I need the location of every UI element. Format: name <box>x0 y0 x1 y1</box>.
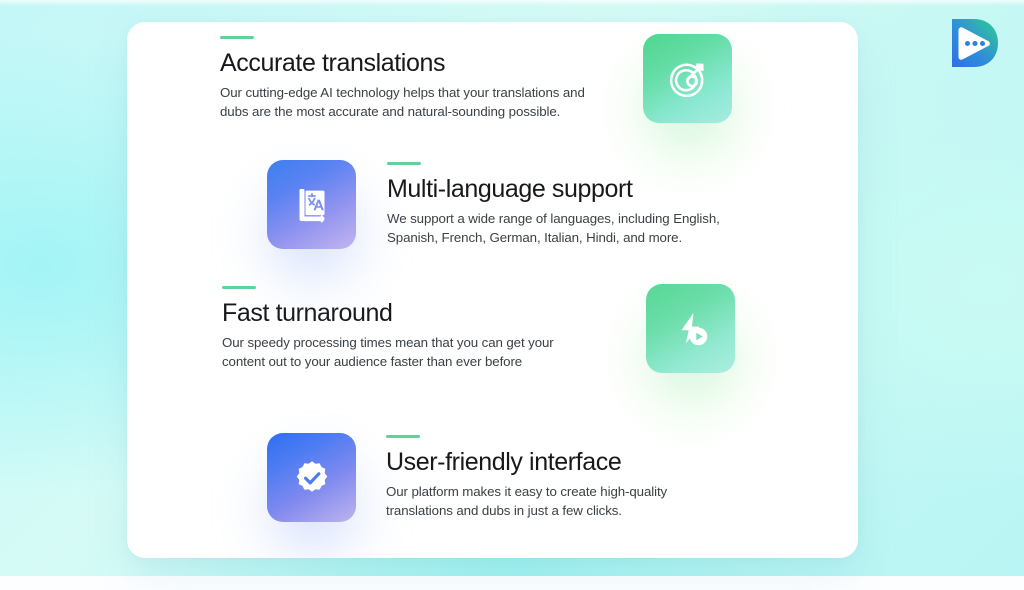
feature-item-multi-language-support: Multi-language support We support a wide… <box>267 160 757 249</box>
brand-logo[interactable] <box>944 14 1002 72</box>
feature-item-user-friendly-interface: User-friendly interface Our platform mak… <box>267 433 711 522</box>
feature-description: Our platform makes it easy to create hig… <box>386 483 711 521</box>
feature-text-block: User-friendly interface Our platform mak… <box>386 435 711 521</box>
accent-bar <box>386 435 420 438</box>
feature-text-block: Multi-language support We support a wide… <box>387 162 757 248</box>
accent-bar <box>387 162 421 165</box>
accent-bar <box>222 286 256 289</box>
feature-icon-tile-wrap <box>643 34 732 123</box>
feature-item-fast-turnaround: Fast turnaround Our speedy processing ti… <box>222 284 735 373</box>
feature-title: Multi-language support <box>387 176 757 203</box>
target-arrow-icon <box>664 55 712 103</box>
features-card: Accurate translations Our cutting-edge A… <box>127 22 858 558</box>
accent-bar <box>220 36 254 39</box>
feature-title: User-friendly interface <box>386 449 711 476</box>
icon-tile-verified[interactable] <box>267 433 356 522</box>
icon-tile-fast[interactable] <box>646 284 735 373</box>
feature-item-accurate-translations: Accurate translations Our cutting-edge A… <box>220 34 732 123</box>
feature-description: Our cutting-edge AI technology helps tha… <box>220 84 625 122</box>
icon-tile-translate[interactable] <box>267 160 356 249</box>
feature-icon-tile-wrap <box>267 433 356 522</box>
verified-badge-icon <box>290 456 334 500</box>
feature-text-block: Accurate translations Our cutting-edge A… <box>220 36 625 122</box>
feature-icon-tile-wrap <box>646 284 735 373</box>
lightning-play-icon <box>669 307 713 351</box>
feature-description: We support a wide range of languages, in… <box>387 210 757 248</box>
feature-description: Our speedy processing times mean that yo… <box>222 334 622 372</box>
icon-tile-target[interactable] <box>643 34 732 123</box>
feature-icon-tile-wrap <box>267 160 356 249</box>
bottom-strip <box>0 576 1024 590</box>
feature-title: Accurate translations <box>220 50 625 77</box>
feature-title: Fast turnaround <box>222 300 622 327</box>
translate-book-icon <box>289 182 335 228</box>
feature-text-block: Fast turnaround Our speedy processing ti… <box>222 286 622 372</box>
